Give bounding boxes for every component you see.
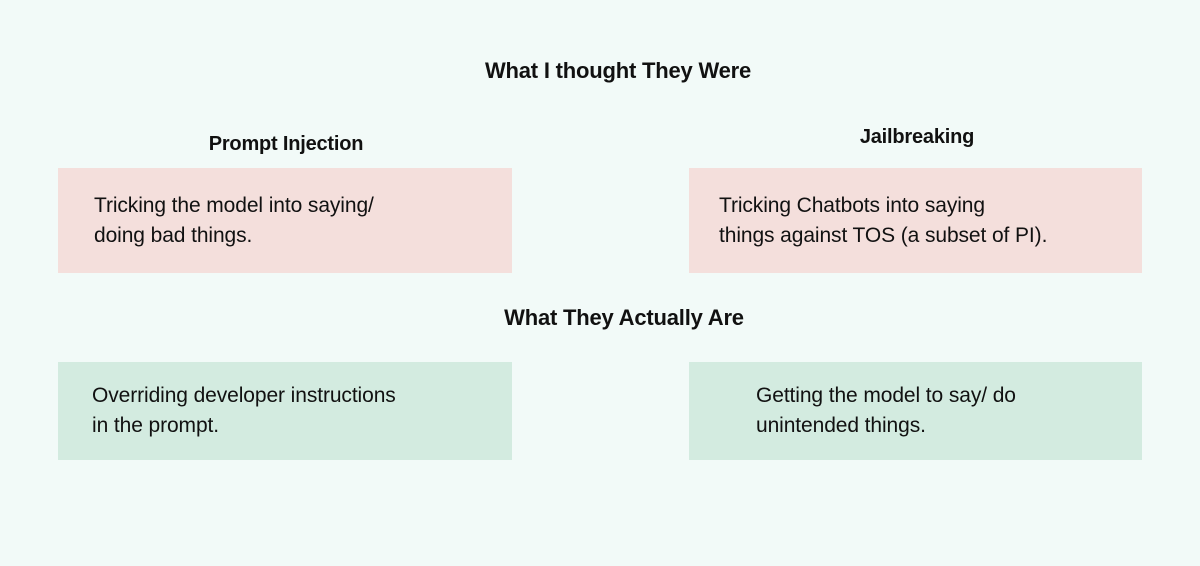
concept-box-text: Tricking Chatbots into saying things aga…	[719, 191, 1124, 251]
section-title-what-i-thought: What I thought They Were	[0, 58, 1200, 84]
concept-box-prompt-injection-actual: Overriding developer instructions in the…	[58, 362, 512, 460]
slide-canvas: What I thought They Were Prompt Injectio…	[0, 0, 1200, 566]
column-heading-prompt-injection: Prompt Injection	[58, 133, 514, 156]
concept-box-text: Tricking the model into saying/ doing ba…	[94, 191, 488, 251]
concept-box-text: Overriding developer instructions in the…	[92, 381, 488, 441]
column-heading-jailbreaking: Jailbreaking	[689, 126, 1145, 149]
concept-box-jailbreaking-perceived: Tricking Chatbots into saying things aga…	[689, 168, 1142, 273]
concept-box-prompt-injection-perceived: Tricking the model into saying/ doing ba…	[58, 168, 512, 273]
concept-box-jailbreaking-actual: Getting the model to say/ do unintended …	[689, 362, 1142, 460]
section-title-what-they-actually-are: What They Actually Are	[0, 305, 1200, 331]
concept-box-text: Getting the model to say/ do unintended …	[756, 381, 1124, 441]
